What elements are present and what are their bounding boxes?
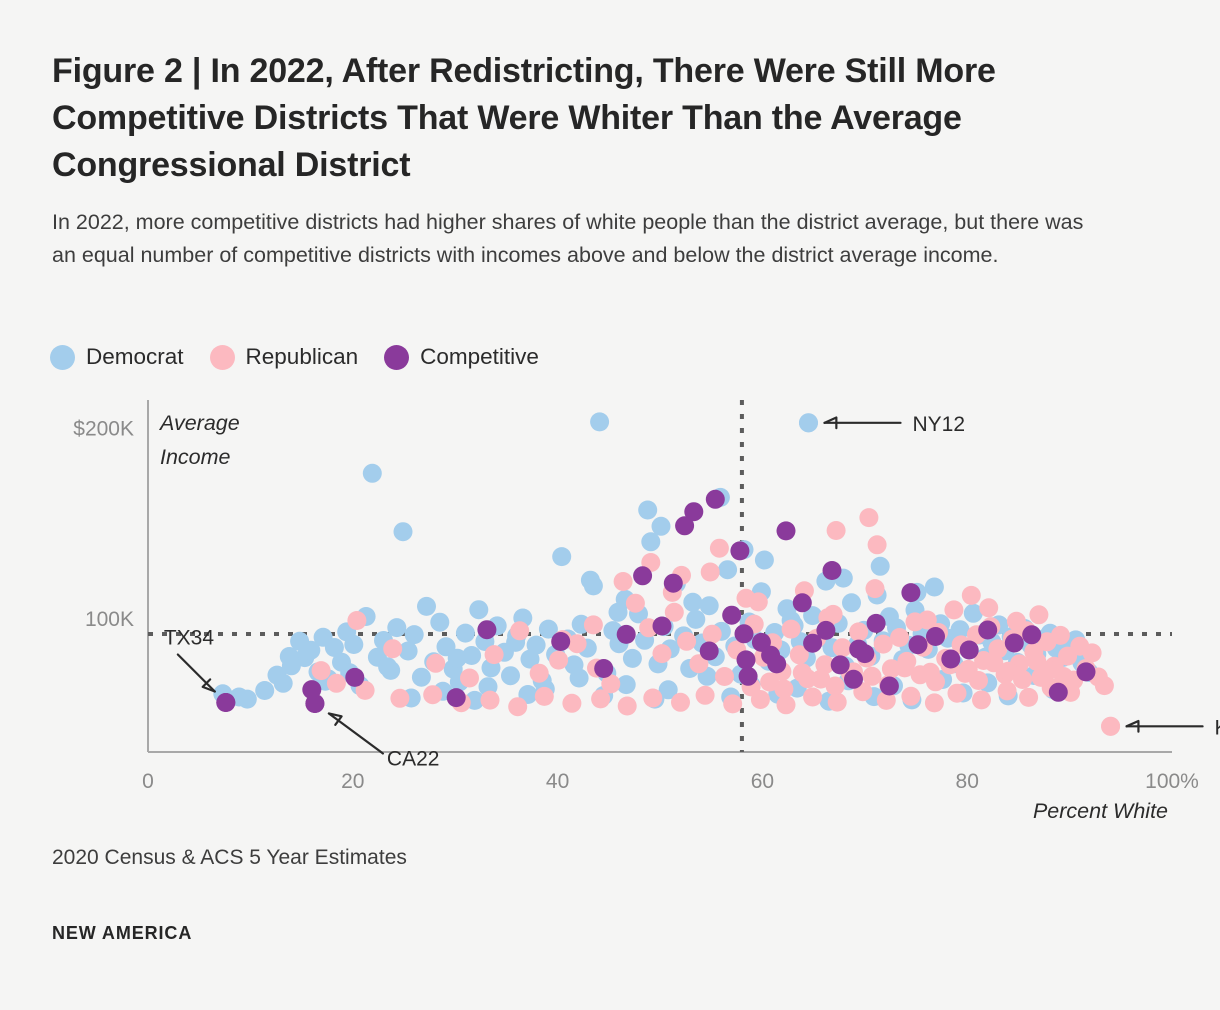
data-point[interactable] [645,690,664,709]
data-point[interactable] [399,642,418,661]
data-point[interactable] [374,631,393,650]
data-point[interactable] [859,508,878,527]
data-point[interactable] [437,637,456,656]
data-point[interactable] [710,539,729,558]
data-point[interactable] [731,665,750,684]
data-point[interactable] [1053,648,1072,667]
data-point[interactable] [618,697,637,716]
data-point[interactable] [940,655,959,674]
data-point[interactable] [675,516,694,535]
data-point[interactable] [1042,678,1061,697]
data-point[interactable] [546,645,565,664]
data-point[interactable] [1022,625,1041,644]
data-point[interactable] [477,620,496,639]
data-point[interactable] [1080,663,1099,682]
data-point[interactable] [803,634,822,653]
data-point[interactable] [655,617,674,636]
data-point[interactable] [475,632,494,651]
data-point[interactable] [701,563,720,582]
data-point[interactable] [797,649,816,668]
data-point[interactable] [836,657,855,676]
data-point[interactable] [653,644,672,663]
data-point[interactable] [706,647,725,666]
data-point[interactable] [572,615,591,634]
data-point[interactable] [462,646,481,665]
data-point[interactable] [345,668,364,687]
data-point[interactable] [826,677,845,696]
data-point[interactable] [671,693,690,712]
annotation-marker[interactable] [216,693,235,712]
data-point[interactable] [951,620,970,639]
data-point[interactable] [890,628,909,647]
data-point[interactable] [754,648,773,667]
data-point[interactable] [899,636,918,655]
data-point[interactable] [827,521,846,540]
data-point[interactable] [672,566,691,585]
data-point[interactable] [919,640,938,659]
data-point[interactable] [633,566,652,585]
data-point[interactable] [984,653,1003,672]
data-point[interactable] [752,582,771,601]
data-point[interactable] [535,687,554,706]
data-point[interactable] [863,667,882,686]
data-point[interactable] [1019,688,1038,707]
data-point[interactable] [906,601,925,620]
data-point[interactable] [715,667,734,686]
data-point[interactable] [712,622,731,641]
data-point[interactable] [1041,624,1060,643]
data-point[interactable] [841,664,860,683]
data-point[interactable] [452,693,471,712]
data-point[interactable] [309,662,328,681]
data-point[interactable] [447,688,466,707]
data-point[interactable] [989,615,1008,634]
data-point[interactable] [999,686,1018,705]
data-point[interactable] [533,671,552,690]
data-point[interactable] [735,540,754,559]
data-point[interactable] [448,649,467,668]
data-point[interactable] [823,638,842,657]
data-point[interactable] [1051,626,1070,645]
data-point[interactable] [1005,634,1024,653]
data-point[interactable] [755,551,774,570]
data-point[interactable] [1024,666,1043,685]
data-point[interactable] [652,517,671,536]
data-point[interactable] [703,625,722,644]
data-point[interactable] [1034,630,1053,649]
data-point[interactable] [834,569,853,588]
data-point[interactable] [268,666,287,685]
data-point[interactable] [674,626,693,645]
data-point[interactable] [884,676,903,695]
data-point[interactable] [970,626,989,645]
data-point[interactable] [1031,668,1050,687]
data-point[interactable] [718,560,737,579]
data-point[interactable] [711,488,730,507]
data-point[interactable] [901,583,920,602]
data-point[interactable] [929,623,948,642]
data-point[interactable] [913,624,932,643]
data-point[interactable] [1077,662,1096,681]
data-point[interactable] [381,661,400,680]
data-point[interactable] [964,604,983,623]
data-point[interactable] [759,652,778,671]
data-point[interactable] [988,639,1007,658]
data-point[interactable] [880,677,899,696]
data-point[interactable] [562,694,581,713]
data-point[interactable] [629,604,648,623]
data-point[interactable] [818,608,837,627]
data-point[interactable] [635,631,654,650]
data-point[interactable] [1089,668,1108,687]
data-point[interactable] [216,693,235,712]
data-point[interactable] [417,597,436,616]
data-point[interactable] [424,652,443,671]
data-point[interactable] [874,635,893,654]
data-point[interactable] [584,576,603,595]
data-point[interactable] [518,685,537,704]
data-point[interactable] [771,641,790,660]
data-point[interactable] [746,630,765,649]
data-point[interactable] [941,650,960,669]
data-point[interactable] [868,535,887,554]
data-point[interactable] [689,654,708,673]
data-point[interactable] [609,603,628,622]
data-point[interactable] [1017,621,1036,640]
data-point[interactable] [290,632,309,651]
data-point[interactable] [1021,635,1040,654]
data-point[interactable] [823,561,842,580]
data-point[interactable] [911,665,930,684]
data-point[interactable] [238,690,257,709]
data-point[interactable] [1044,680,1063,699]
data-point[interactable] [967,625,986,644]
data-point[interactable] [1040,661,1059,680]
data-point[interactable] [663,583,682,602]
data-point[interactable] [1015,619,1034,638]
data-point[interactable] [312,661,331,680]
data-point[interactable] [433,682,452,701]
data-point[interactable] [867,614,886,633]
data-point[interactable] [998,681,1017,700]
data-point[interactable] [815,655,834,674]
data-point[interactable] [1008,653,1027,672]
data-point[interactable] [387,618,406,637]
data-point[interactable] [597,664,616,683]
data-point[interactable] [659,680,678,699]
data-point[interactable] [639,618,658,637]
data-point[interactable] [931,614,950,633]
annotation-marker[interactable] [305,694,324,713]
data-point[interactable] [761,646,780,665]
data-point[interactable] [539,620,558,639]
data-point[interactable] [568,634,587,653]
data-point[interactable] [798,669,817,688]
data-point[interactable] [1002,627,1021,646]
data-point[interactable] [402,689,421,708]
data-point[interactable] [327,674,346,693]
data-point[interactable] [316,672,335,691]
data-point[interactable] [956,664,975,683]
data-point[interactable] [978,621,997,640]
data-point[interactable] [774,680,793,699]
data-point[interactable] [378,657,397,676]
data-point[interactable] [641,532,660,551]
data-point[interactable] [921,663,940,682]
annotation-marker[interactable] [1101,717,1120,736]
data-point[interactable] [1038,632,1057,651]
data-point[interactable] [603,621,622,640]
data-point[interactable] [785,616,804,635]
data-point[interactable] [816,621,835,640]
data-point[interactable] [957,638,976,657]
data-point[interactable] [686,610,705,629]
data-point[interactable] [952,635,971,654]
data-point[interactable] [768,685,787,704]
data-point[interactable] [959,660,978,679]
data-point[interactable] [996,641,1015,660]
data-point[interactable] [944,654,963,673]
data-point[interactable] [824,605,843,624]
data-point[interactable] [844,670,863,689]
data-point[interactable] [749,592,768,611]
data-point[interactable] [683,593,702,612]
data-point[interactable] [857,649,876,668]
data-point[interactable] [465,691,484,710]
data-point[interactable] [925,693,944,712]
data-point[interactable] [849,640,868,659]
data-point[interactable] [974,651,993,670]
data-point[interactable] [319,669,338,688]
data-point[interactable] [584,615,603,634]
data-point[interactable] [981,617,1000,636]
data-point[interactable] [412,668,431,687]
data-point[interactable] [1101,717,1120,736]
data-point[interactable] [578,639,597,658]
data-point[interactable] [778,599,797,618]
data-point[interactable] [854,621,873,640]
data-point[interactable] [849,622,868,641]
data-point[interactable] [1072,653,1091,672]
data-point[interactable] [665,603,684,622]
data-point[interactable] [507,627,526,646]
data-point[interactable] [914,638,933,657]
data-point[interactable] [594,659,613,678]
data-point[interactable] [482,658,501,677]
data-point[interactable] [1024,642,1043,661]
data-point[interactable] [706,490,725,509]
data-point[interactable] [302,680,321,699]
data-point[interactable] [488,616,507,635]
data-point[interactable] [698,667,717,686]
data-point[interactable] [737,589,756,608]
data-point[interactable] [274,674,293,693]
data-point[interactable] [643,689,662,708]
data-point[interactable] [799,413,818,432]
data-point[interactable] [926,627,945,646]
data-point[interactable] [1029,605,1048,624]
data-point[interactable] [305,694,324,713]
data-point[interactable] [865,687,884,706]
data-point[interactable] [842,593,861,612]
data-point[interactable] [405,625,424,644]
data-point[interactable] [810,628,829,647]
data-point[interactable] [721,688,740,707]
data-point[interactable] [751,690,770,709]
data-point[interactable] [803,688,822,707]
data-point[interactable] [501,666,520,685]
legend-item-competitive[interactable]: Competitive [384,345,539,370]
data-point[interactable] [521,650,540,669]
data-point[interactable] [1027,645,1046,664]
data-point[interactable] [230,688,249,707]
data-point[interactable] [999,662,1018,681]
data-point[interactable] [255,681,274,700]
data-point[interactable] [368,648,387,667]
data-point[interactable] [853,682,872,701]
data-point[interactable] [895,658,914,677]
data-point[interactable] [1058,647,1077,666]
data-point[interactable] [693,634,712,653]
data-point[interactable] [866,579,885,598]
data-point[interactable] [752,633,771,652]
data-point[interactable] [727,641,746,660]
data-point[interactable] [426,654,445,673]
data-point[interactable] [677,632,696,651]
data-point[interactable] [944,600,963,619]
data-point[interactable] [667,574,686,593]
data-point[interactable] [855,644,874,663]
data-point[interactable] [807,629,826,648]
data-point[interactable] [356,681,375,700]
data-point[interactable] [739,667,758,686]
data-point[interactable] [972,690,991,709]
data-point[interactable] [897,652,916,671]
data-point[interactable] [978,673,997,692]
data-point[interactable] [902,690,921,709]
data-point[interactable] [1054,667,1073,686]
data-point[interactable] [610,634,629,653]
data-point[interactable] [594,686,613,705]
data-point[interactable] [803,606,822,625]
data-point[interactable] [874,631,893,650]
data-point[interactable] [848,635,867,654]
data-point[interactable] [723,694,742,713]
data-point[interactable] [469,600,488,619]
data-point[interactable] [811,670,830,689]
data-point[interactable] [601,674,620,693]
data-point[interactable] [722,606,741,625]
data-point[interactable] [782,611,801,630]
data-point[interactable] [450,673,469,692]
data-point[interactable] [617,675,636,694]
data-point[interactable] [357,607,376,626]
data-point[interactable] [700,596,719,615]
data-point[interactable] [730,541,749,560]
data-point[interactable] [1061,683,1080,702]
data-point[interactable] [485,645,504,664]
data-point[interactable] [969,671,988,690]
data-point[interactable] [820,692,839,711]
data-point[interactable] [590,412,609,431]
data-point[interactable] [936,649,955,668]
data-point[interactable] [394,522,413,541]
data-point[interactable] [1064,671,1083,690]
data-point[interactable] [456,624,475,643]
data-point[interactable] [513,609,532,628]
data-point[interactable] [301,641,320,660]
data-point[interactable] [661,639,680,658]
data-point[interactable] [868,586,887,605]
data-point[interactable] [1003,630,1022,649]
data-point[interactable] [1095,676,1114,695]
data-point[interactable] [700,642,719,661]
data-point[interactable] [1060,636,1079,655]
data-point[interactable] [1047,639,1066,658]
data-point[interactable] [684,502,703,521]
data-point[interactable] [844,662,863,681]
data-point[interactable] [1045,657,1064,676]
data-point[interactable] [332,653,351,672]
data-point[interactable] [314,628,333,647]
data-point[interactable] [760,673,779,692]
legend-item-democrat[interactable]: Democrat [50,345,184,370]
data-point[interactable] [351,676,370,695]
data-point[interactable] [954,684,973,703]
data-point[interactable] [536,680,555,699]
data-point[interactable] [553,630,572,649]
data-point[interactable] [653,617,672,636]
data-point[interactable] [790,645,809,664]
data-point[interactable] [344,635,363,654]
data-point[interactable] [1010,654,1029,673]
data-point[interactable] [871,557,890,576]
data-point[interactable] [793,663,812,682]
data-point[interactable] [737,650,756,669]
data-point[interactable] [444,660,463,679]
data-point[interactable] [1066,630,1085,649]
data-point[interactable] [791,632,810,651]
data-point[interactable] [527,636,546,655]
data-point[interactable] [742,676,761,695]
data-point[interactable] [772,662,791,681]
data-point[interactable] [551,632,570,651]
data-point[interactable] [1083,643,1102,662]
data-point[interactable] [938,629,957,648]
data-point[interactable] [530,664,549,683]
data-point[interactable] [740,613,759,632]
data-point[interactable] [506,633,525,652]
data-point[interactable] [510,621,529,640]
data-point[interactable] [816,572,835,591]
data-point[interactable] [460,669,479,688]
data-point[interactable] [325,638,344,657]
data-point[interactable] [423,685,442,704]
annotation-marker[interactable] [799,413,818,432]
data-point[interactable] [982,633,1001,652]
data-point[interactable] [641,553,660,572]
data-point[interactable] [614,572,633,591]
data-point[interactable] [1007,612,1026,631]
data-point[interactable] [481,691,500,710]
data-point[interactable] [664,574,683,593]
data-point[interactable] [882,659,901,678]
data-point[interactable] [626,594,645,613]
data-point[interactable] [962,586,981,605]
data-point[interactable] [925,578,944,597]
data-point[interactable] [763,633,782,652]
data-point[interactable] [213,684,232,703]
